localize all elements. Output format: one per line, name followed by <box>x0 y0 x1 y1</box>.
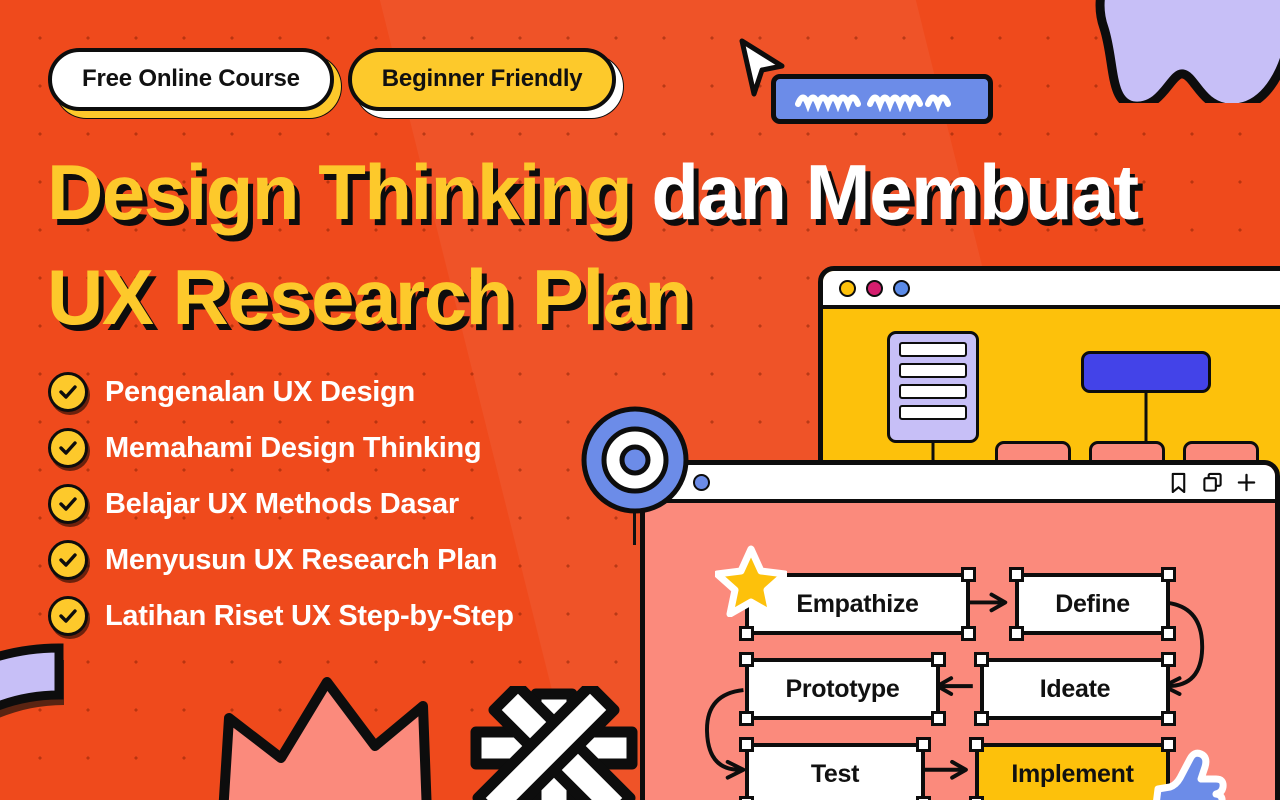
flowchart-canvas: Empathize Define Prototype Ideate <box>645 503 1275 800</box>
lavender-arc-shape <box>0 640 234 800</box>
flow-node-label: Implement <box>1011 760 1133 789</box>
headline-highlight: Design Thinking <box>47 148 631 236</box>
list-item: Pengenalan UX Design <box>48 364 514 420</box>
resize-handle[interactable] <box>969 796 984 800</box>
list-item: Memahami Design Thinking <box>48 420 514 476</box>
flowchart-window: Empathize Define Prototype Ideate <box>640 460 1280 800</box>
list-item: Belajar UX Methods Dasar <box>48 476 514 532</box>
flow-node-label: Prototype <box>786 675 900 704</box>
copy-icon[interactable] <box>1202 472 1223 493</box>
resize-handle[interactable] <box>1161 567 1176 582</box>
scribble-banner <box>771 74 993 124</box>
checklist-item-label: Menyusun UX Research Plan <box>105 544 497 577</box>
flow-node-define[interactable]: Define <box>1015 573 1170 635</box>
white-asterisk-shape <box>468 686 640 800</box>
resize-handle[interactable] <box>974 652 989 667</box>
purple-blob-shape <box>1079 0 1280 103</box>
bullseye-target-icon <box>580 405 690 515</box>
resize-handle[interactable] <box>974 711 989 726</box>
cursor-arrow-icon <box>738 38 786 100</box>
check-circle-icon <box>48 484 88 524</box>
salmon-crown-shape <box>215 672 435 800</box>
page-title: Design Thinking dan Membuat UX Research … <box>47 140 1247 351</box>
check-circle-icon <box>48 428 88 468</box>
checklist-item-label: Belajar UX Methods Dasar <box>105 488 459 521</box>
flow-node-label: Test <box>811 760 859 789</box>
flow-node-ideate[interactable]: Ideate <box>980 658 1170 720</box>
resize-handle[interactable] <box>739 796 754 800</box>
scribble-text-icon <box>792 86 972 112</box>
resize-handle[interactable] <box>961 567 976 582</box>
plus-icon[interactable] <box>1236 472 1257 493</box>
resize-handle[interactable] <box>1009 626 1024 641</box>
headline-rest: dan Membuat <box>631 148 1137 236</box>
checklist-item-label: Memahami Design Thinking <box>105 432 481 465</box>
flow-node-test[interactable]: Test <box>745 743 925 800</box>
checklist-item-label: Latihan Riset UX Step-by-Step <box>105 600 514 633</box>
resize-handle[interactable] <box>961 626 976 641</box>
resize-handle[interactable] <box>969 737 984 752</box>
flow-node-label: Ideate <box>1040 675 1110 704</box>
tab-indicator-dot[interactable] <box>693 474 710 491</box>
bookmark-icon[interactable] <box>1168 472 1189 493</box>
resize-handle[interactable] <box>739 626 754 641</box>
headline-line-1: Design Thinking dan Membuat <box>47 140 1247 245</box>
resize-handle[interactable] <box>1161 652 1176 667</box>
resize-handle[interactable] <box>1161 626 1176 641</box>
resize-handle[interactable] <box>916 737 931 752</box>
list-item: Latihan Riset UX Step-by-Step <box>48 588 514 644</box>
list-item: Menyusun UX Research Plan <box>48 532 514 588</box>
badge-free-online-course[interactable]: Free Online Course <box>48 48 334 111</box>
resize-handle[interactable] <box>739 711 754 726</box>
resize-handle[interactable] <box>1161 711 1176 726</box>
checklist-item-label: Pengenalan UX Design <box>105 376 415 409</box>
star-sticker-icon <box>715 545 787 617</box>
checklist: Pengenalan UX Design Memahami Design Thi… <box>48 364 514 644</box>
flow-node-implement[interactable]: Implement <box>975 743 1170 800</box>
resize-handle[interactable] <box>739 737 754 752</box>
check-circle-icon <box>48 540 88 580</box>
toolbar-icons <box>1168 472 1257 493</box>
flow-node-prototype[interactable]: Prototype <box>745 658 940 720</box>
diagram-node-blue[interactable] <box>1081 351 1211 393</box>
badge-row: Free Online Course Beginner Friendly <box>48 48 616 111</box>
check-circle-icon <box>48 596 88 636</box>
flow-node-label: Define <box>1055 590 1130 619</box>
resize-handle[interactable] <box>1009 567 1024 582</box>
resize-handle[interactable] <box>931 652 946 667</box>
flow-node-label: Empathize <box>796 590 918 619</box>
headline-line-2: UX Research Plan <box>47 245 1247 350</box>
resize-handle[interactable] <box>931 711 946 726</box>
flowchart-window-toolbar <box>645 465 1275 503</box>
check-circle-icon <box>48 372 88 412</box>
badge-beginner-friendly[interactable]: Beginner Friendly <box>348 48 617 111</box>
thumbs-up-sticker-icon <box>1150 745 1228 800</box>
resize-handle[interactable] <box>916 796 931 800</box>
resize-handle[interactable] <box>739 652 754 667</box>
